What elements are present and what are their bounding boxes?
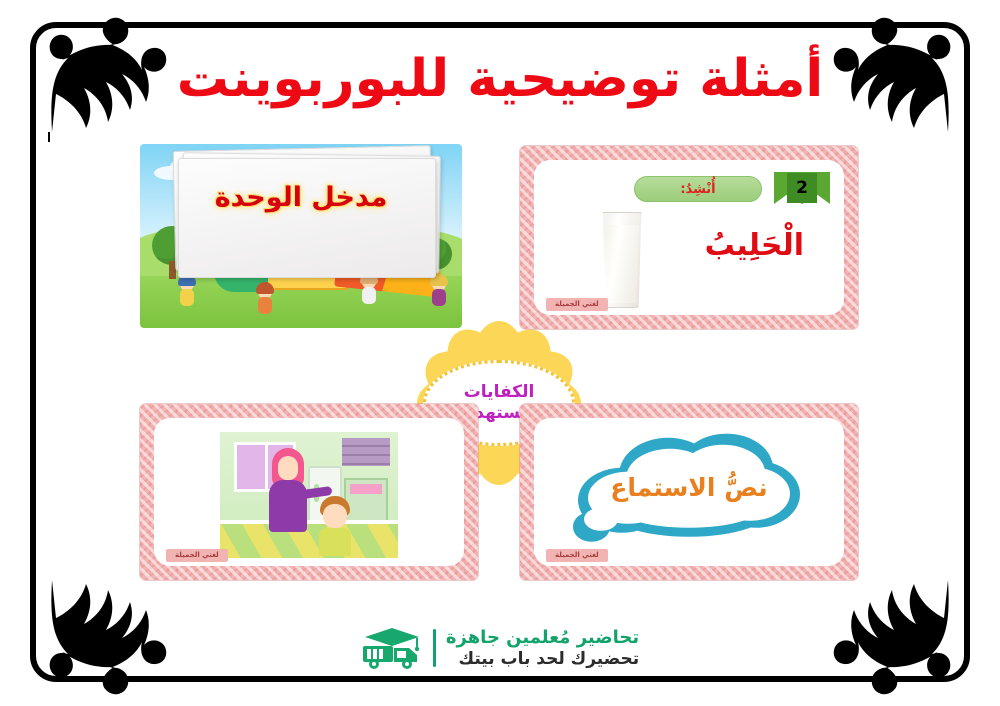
cloud-slide-body: نصُّ الاستماع لغتي الجميلة	[534, 418, 844, 566]
brand-divider	[433, 629, 436, 667]
lesson-number-ribbon-badge: 2	[774, 172, 830, 204]
footer-brand: تحاضير مُعلمين جاهزة تحضيرك لحد باب بيتك	[0, 626, 1000, 670]
child-right	[432, 277, 446, 306]
brand-line-2: تحضيرك لحد باب بيتك	[446, 649, 639, 669]
goals-line-1: الكفايات	[464, 382, 535, 403]
intro-slide-body: مدخل الوحدة	[140, 144, 462, 328]
slide-footer-tag: لغتي الجميلة	[546, 549, 608, 562]
intro-heading: مدخل الوحدة	[140, 182, 462, 213]
poster-canvas: أمثلة توضيحية للبوربوينت الكفايات المسته…	[0, 0, 1000, 706]
delivery-truck-graduation-cap-icon	[361, 626, 423, 670]
slide-kitchen-scene[interactable]: لغتي الجميلة	[140, 404, 478, 580]
kitchen-cabinet	[342, 438, 390, 466]
kitchen-slide-body: لغتي الجميلة	[154, 418, 464, 566]
child-front	[258, 285, 272, 314]
milk-slide-body: أُنْشِدُ: 2 الْحَلِيبُ لغتي الجميلة	[534, 160, 844, 315]
ribbon-number: 2	[787, 173, 817, 203]
child-on-chute	[362, 275, 376, 304]
mother-character	[266, 448, 310, 532]
page-title: أمثلة توضيحية للبوربوينت	[0, 52, 1000, 107]
prompt-label: أُنْشِدُ:	[680, 182, 715, 197]
prompt-pill-unshidu[interactable]: أُنْشِدُ:	[634, 176, 762, 202]
boy-character	[316, 496, 354, 556]
slide-footer-tag: لغتي الجميلة	[546, 298, 608, 311]
speech-cloud-bubble: نصُّ الاستماع	[573, 434, 805, 546]
glass-of-milk-image	[600, 212, 644, 308]
slide-footer-tag: لغتي الجميلة	[166, 549, 228, 562]
milk-word: الْحَلِيبُ	[705, 228, 804, 263]
kitchen-illustration	[220, 432, 398, 558]
slide-milk-song[interactable]: أُنْشِدُ: 2 الْحَلِيبُ لغتي الجميلة	[520, 146, 858, 329]
brand-text-block: تحاضير مُعلمين جاهزة تحضيرك لحد باب بيتك	[446, 627, 639, 669]
slide-unit-introduction[interactable]: مدخل الوحدة	[140, 144, 462, 328]
brand-line-1: تحاضير مُعلمين جاهزة	[446, 627, 639, 648]
child-with-racket	[180, 277, 194, 306]
slide-listening-text[interactable]: نصُّ الاستماع لغتي الجميلة	[520, 404, 858, 580]
paper-sheet-front	[178, 158, 436, 278]
paper-stack-graphic	[140, 144, 462, 328]
cloud-text: نصُّ الاستماع	[573, 434, 805, 546]
